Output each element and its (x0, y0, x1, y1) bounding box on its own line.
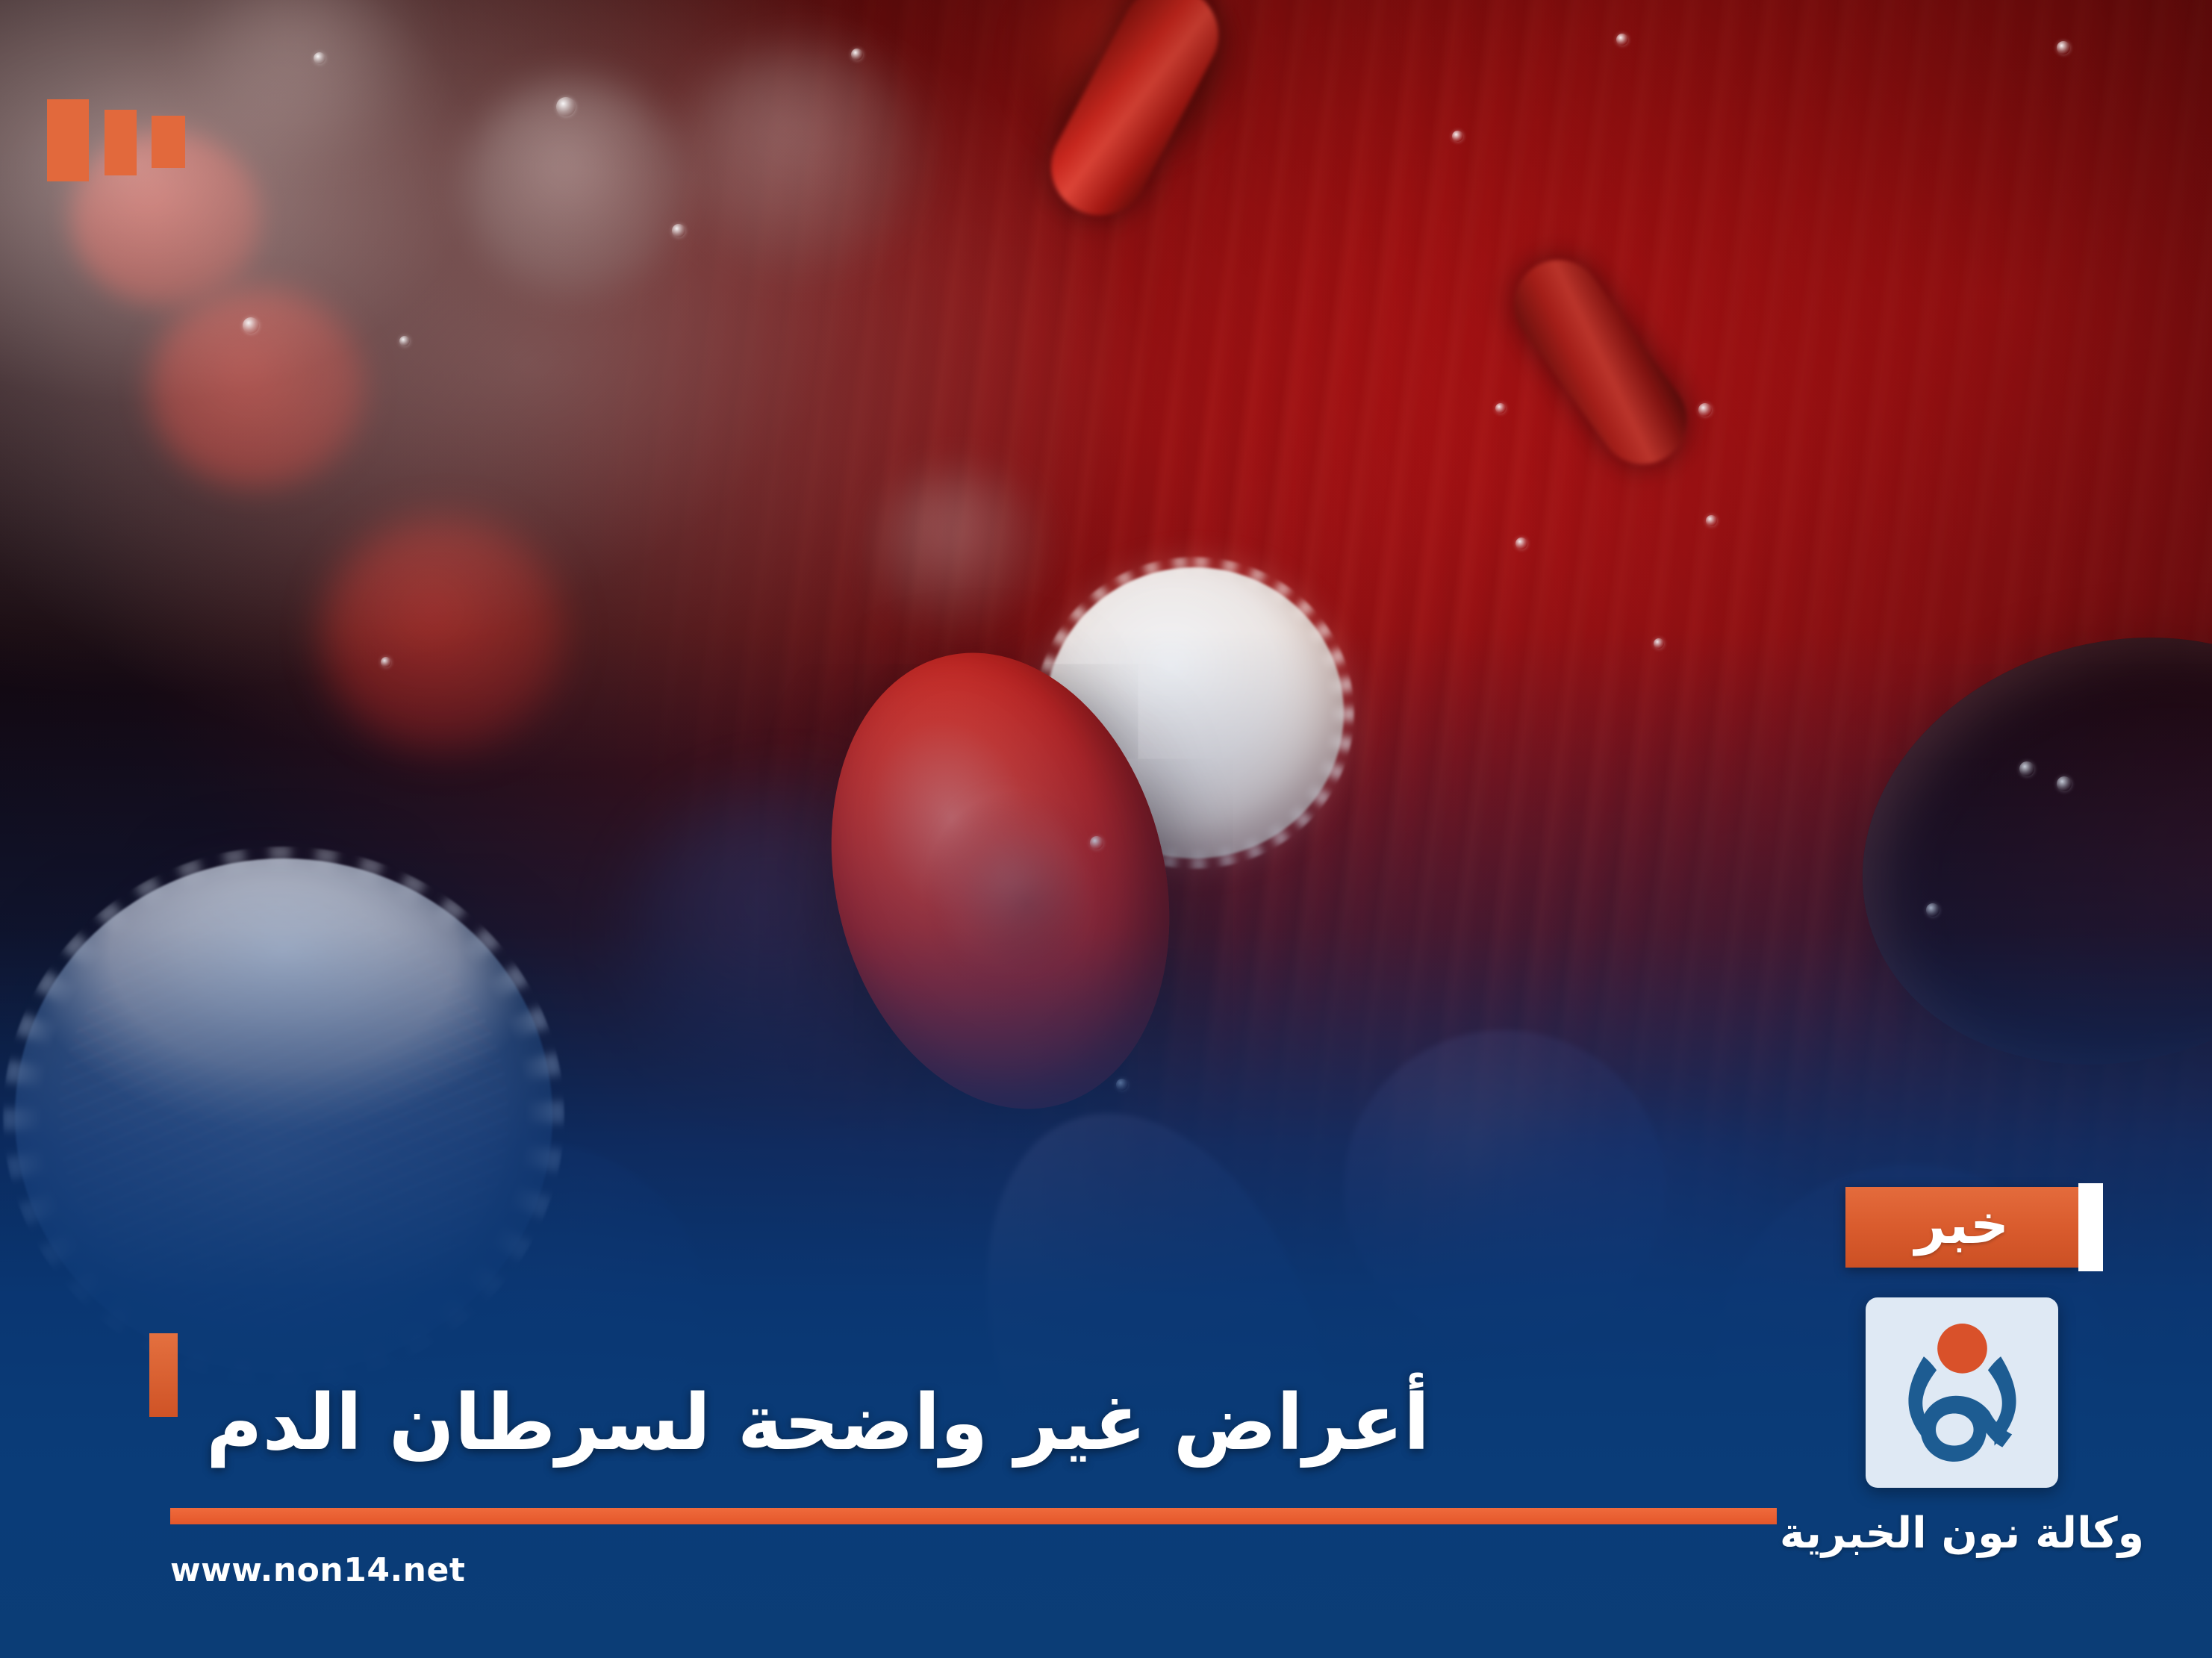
noon-logo-icon (1882, 1312, 2043, 1473)
headline-accent-bar-icon (149, 1333, 178, 1417)
headline-text: أعراض غير واضحة لسرطان الدم (206, 1380, 1430, 1466)
tick-mark-icon (47, 99, 89, 181)
brand-block: خبر وكالة نون الخبرية (1790, 1187, 2134, 1557)
website-url: www.non14.net (170, 1551, 465, 1589)
news-card: خبر وكالة نون الخبرية أعراض غير واضحة لس… (0, 0, 2212, 1658)
headline-row: أعراض غير واضحة لسرطان الدم (149, 1329, 1809, 1518)
news-badge-label: خبر (1915, 1197, 2009, 1251)
news-badge: خبر (1845, 1187, 2078, 1268)
tick-mark-icon (152, 116, 185, 168)
brand-name: وكالة نون الخبرية (1780, 1510, 2144, 1557)
agency-logo (1866, 1297, 2058, 1488)
badge-white-bar-icon (2078, 1183, 2103, 1271)
tick-mark-icon (105, 110, 137, 175)
footer-divider (170, 1508, 1777, 1524)
